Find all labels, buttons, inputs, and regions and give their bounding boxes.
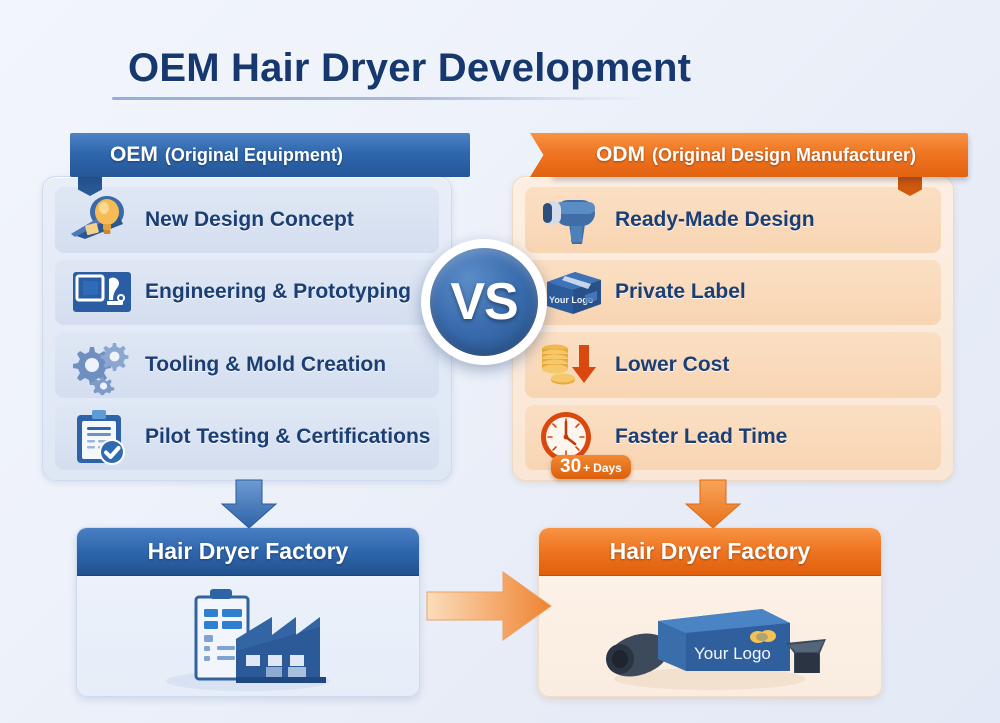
gears-icon <box>65 335 141 395</box>
odm-banner: ODM (Original Design Manufacturer) <box>552 133 968 177</box>
lightbulb-design-icon <box>65 190 141 250</box>
lead-time-days-value: 30 <box>560 457 581 476</box>
odm-panel: Ready-Made Design Your Logo Private Labe… <box>512 176 954 481</box>
lead-time-days-unit: Days <box>593 462 622 474</box>
arrow-right-orange-icon <box>425 568 553 644</box>
hair-dryer-icon <box>535 190 611 250</box>
title-underline <box>112 97 652 100</box>
factory-building-icon <box>148 581 348 693</box>
odm-item-lower-cost[interactable]: Lower Cost <box>525 332 941 398</box>
odm-banner-subtitle: (Original Design Manufacturer) <box>652 145 916 166</box>
branded-box-icon: Your Logo <box>535 262 611 322</box>
oem-outcome-box: Hair Dryer Factory <box>76 527 420 697</box>
arrow-down-orange-icon <box>682 478 744 530</box>
oem-banner-title: OEM <box>110 143 158 167</box>
odm-item-faster-lead-time[interactable]: Faster Lead Time 30 + Days <box>525 405 941 471</box>
oem-item-tooling-mold-creation[interactable]: Tooling & Mold Creation <box>55 332 439 398</box>
oem-item-label: New Design Concept <box>145 208 354 232</box>
odm-banner-notch <box>530 133 572 177</box>
clipboard-check-icon <box>65 407 141 467</box>
odm-item-label: Private Label <box>615 280 746 304</box>
odm-item-private-label[interactable]: Your Logo Private Label <box>525 260 941 326</box>
odm-outcome-title: Hair Dryer Factory <box>539 528 881 576</box>
odm-item-ready-made-design[interactable]: Ready-Made Design <box>525 187 941 253</box>
coins-down-arrow-icon <box>535 335 611 395</box>
oem-item-engineering-prototyping[interactable]: Engineering & Prototyping <box>55 260 439 326</box>
page-title: OEM Hair Dryer Development <box>128 46 691 91</box>
odm-item-label: Ready-Made Design <box>615 208 815 232</box>
oem-item-new-design-concept[interactable]: New Design Concept <box>55 187 439 253</box>
odm-item-label: Faster Lead Time <box>615 425 787 449</box>
oem-panel: New Design Concept Engineering & Prototy… <box>42 176 452 481</box>
cad-monitor-icon <box>65 262 141 322</box>
arrow-down-blue-icon <box>218 478 280 530</box>
branded-product-box-icon: Your Logo <box>590 581 830 693</box>
lead-time-days-badge: 30 + Days <box>551 455 631 479</box>
oem-outcome-title: Hair Dryer Factory <box>77 528 419 576</box>
odm-outcome-box: Hair Dryer Factory Your Logo <box>538 527 882 697</box>
svg-text:Your Logo: Your Logo <box>694 644 771 663</box>
oem-item-label: Tooling & Mold Creation <box>145 353 386 377</box>
oem-outcome-body <box>77 576 419 697</box>
oem-item-label: Engineering & Prototyping <box>145 280 411 304</box>
odm-banner-title: ODM <box>596 143 645 167</box>
oem-banner-subtitle: (Original Equipment) <box>165 145 343 166</box>
vs-badge-inner: VS <box>430 248 538 356</box>
vs-label: VS <box>450 272 517 332</box>
vs-badge: VS <box>421 239 547 365</box>
lead-time-days-sup: + <box>583 462 590 474</box>
infographic-canvas: OEM Hair Dryer Development OEM (Original… <box>0 0 1000 723</box>
odm-item-label: Lower Cost <box>615 353 729 377</box>
oem-item-pilot-testing-certifications[interactable]: Pilot Testing & Certifications <box>55 405 439 471</box>
odm-outcome-body: Your Logo <box>539 576 881 697</box>
oem-item-label: Pilot Testing & Certifications <box>145 425 430 449</box>
